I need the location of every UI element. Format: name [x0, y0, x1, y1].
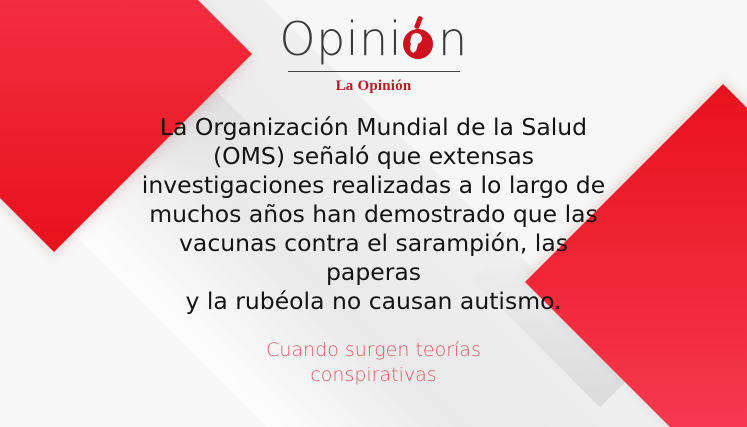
- brand-wordmark-prefix: Opini: [279, 16, 402, 62]
- opinion-o-comma-icon: [403, 25, 437, 59]
- brand-divider: [288, 71, 460, 72]
- quote-line: vacunas contra el sarampión, las paperas: [139, 229, 609, 287]
- caption-text: Cuando surgen teorías conspirativas: [174, 338, 574, 388]
- quote-text: La Organización Mundial de la Salud (OMS…: [139, 113, 609, 316]
- card-content: Opini n La Opinión La Organización Mundi…: [0, 0, 747, 427]
- acute-accent-mark: [414, 16, 424, 30]
- brand-logo: Opini n La Opinión: [279, 16, 467, 95]
- caption-line: conspirativas: [174, 363, 574, 388]
- quote-line: (OMS) señaló que extensas: [139, 142, 609, 171]
- brand-wordmark: Opini n: [279, 16, 467, 62]
- quote-line: La Organización Mundial de la Salud: [139, 113, 609, 142]
- quote-line: investigaciones realizadas a lo largo de: [139, 171, 609, 200]
- quote-line: muchos años han demostrado que las: [139, 200, 609, 229]
- quote-card: Opini n La Opinión La Organización Mundi…: [0, 0, 747, 427]
- brand-wordmark-suffix: n: [438, 16, 468, 62]
- caption-line: Cuando surgen teorías: [174, 338, 574, 363]
- quote-line: y la rubéola no causan autismo.: [139, 287, 609, 316]
- brand-subtitle: La Opinión: [336, 78, 412, 95]
